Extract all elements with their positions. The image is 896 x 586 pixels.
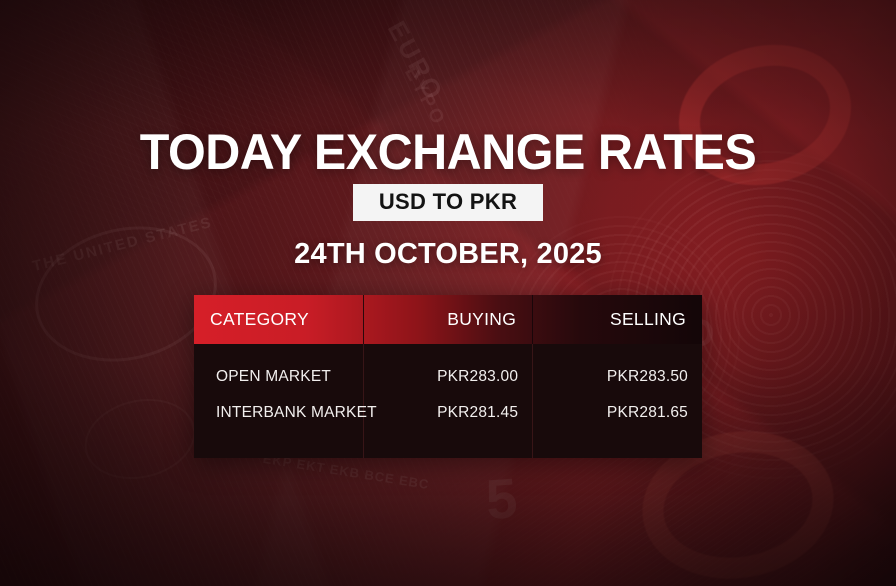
- rates-table-header-row: CATEGORY BUYING SELLING: [194, 295, 702, 344]
- table-row: OPEN MARKET PKR283.00 PKR283.50: [194, 344, 702, 395]
- page-title: TODAY EXCHANGE RATES: [13, 126, 882, 179]
- cell-category: INTERBANK MARKET: [194, 395, 363, 458]
- exchange-rate-poster: EURO EYPO EURO EYPO THE UNITED STATES EK…: [0, 0, 896, 586]
- rates-date: 24TH OCTOBER, 2025: [0, 238, 896, 271]
- poster-content: TODAY EXCHANGE RATES USD TO PKR 24TH OCT…: [0, 0, 896, 586]
- column-header-buying: BUYING: [363, 295, 532, 344]
- currency-pair-badge-row: USD TO PKR: [0, 184, 896, 221]
- rates-table-body: OPEN MARKET PKR283.00 PKR283.50 INTERBAN…: [194, 344, 702, 458]
- cell-selling: PKR283.50: [533, 344, 702, 395]
- column-header-selling: SELLING: [533, 295, 702, 344]
- cell-selling: PKR281.65: [533, 395, 702, 458]
- cell-buying: PKR281.45: [363, 395, 532, 458]
- currency-pair-badge: USD TO PKR: [353, 184, 543, 221]
- rates-table: CATEGORY BUYING SELLING OPEN MARKET PKR2…: [194, 295, 702, 458]
- cell-buying: PKR283.00: [363, 344, 532, 395]
- table-row: INTERBANK MARKET PKR281.45 PKR281.65: [194, 395, 702, 458]
- rates-table-head: CATEGORY BUYING SELLING: [194, 295, 702, 344]
- column-header-category: CATEGORY: [194, 295, 363, 344]
- cell-category: OPEN MARKET: [194, 344, 363, 395]
